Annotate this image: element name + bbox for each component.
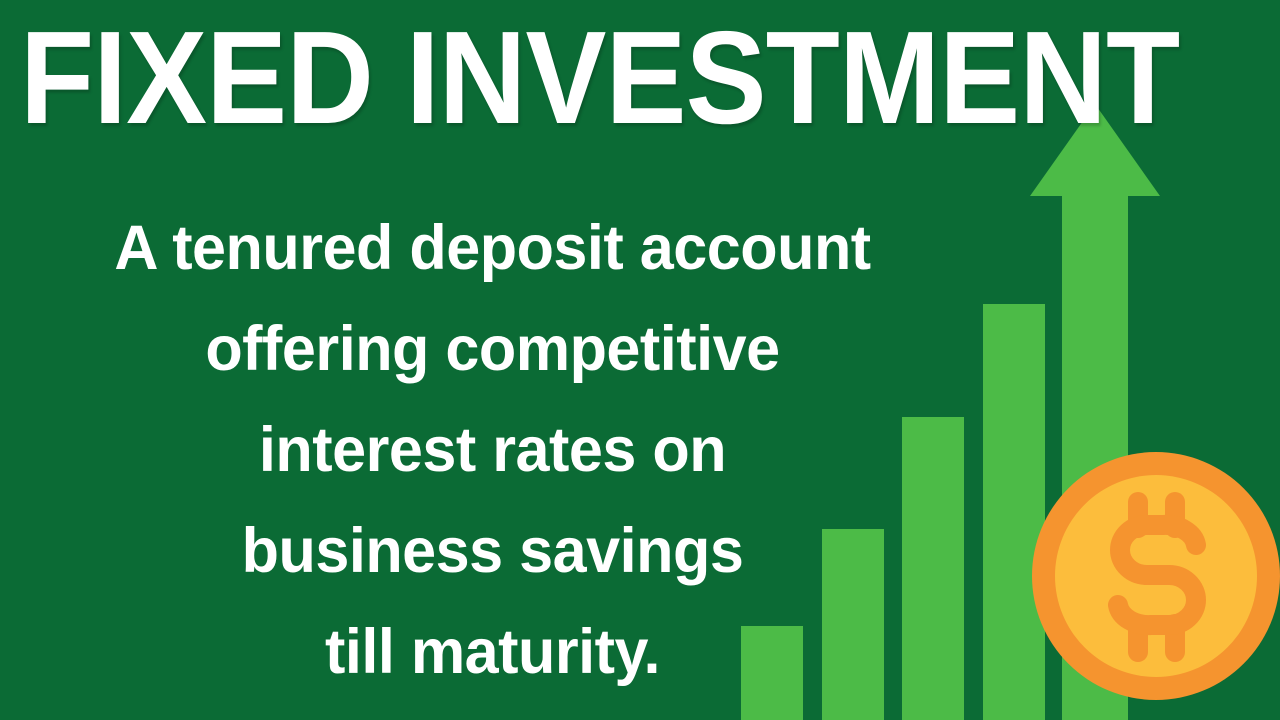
dollar-sign-icon: [1118, 502, 1196, 652]
finance-growth-illustration: [0, 0, 1280, 720]
bar-4: [983, 304, 1045, 720]
bar-1: [741, 626, 803, 720]
bar-2: [822, 529, 884, 720]
bar-3: [902, 417, 964, 720]
poster-canvas: FIXED INVESTMENT A tenured deposit accou…: [0, 0, 1280, 720]
dollar-coin-icon: [1032, 452, 1280, 700]
